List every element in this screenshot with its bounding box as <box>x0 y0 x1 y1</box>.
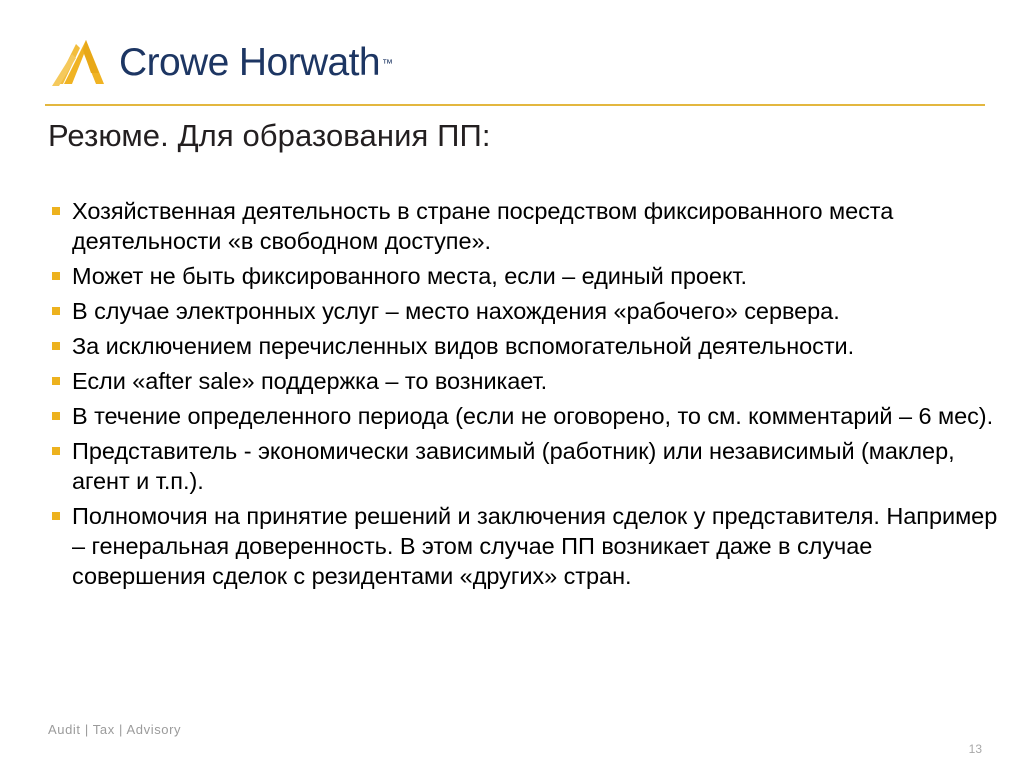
list-item-text: Хозяйственная деятельность в стране поср… <box>72 196 1000 256</box>
page-title: Резюме. Для образования ПП: <box>48 118 491 154</box>
logo-text: Crowe Horwath <box>119 43 380 82</box>
list-item: Представитель - экономически зависимый (… <box>48 436 1000 496</box>
list-item-text: За исключением перечисленных видов вспом… <box>72 331 1000 361</box>
list-item: Если «after sale» поддержка – то возника… <box>48 366 1000 396</box>
square-bullet-icon <box>52 207 60 215</box>
page-number: 13 <box>969 742 982 756</box>
list-item-text: В течение определенного периода (если не… <box>72 401 1000 431</box>
square-bullet-icon <box>52 412 60 420</box>
list-item: Хозяйственная деятельность в стране поср… <box>48 196 1000 256</box>
list-item: В случае электронных услуг – место нахож… <box>48 296 1000 326</box>
square-bullet-icon <box>52 307 60 315</box>
brand-logo: Crowe Horwath ™ <box>52 33 393 91</box>
square-bullet-icon <box>52 342 60 350</box>
list-item-text: Полномочия на принятие решений и заключе… <box>72 501 1000 591</box>
trademark-icon: ™ <box>382 59 393 70</box>
square-bullet-icon <box>52 512 60 520</box>
bullet-list: Хозяйственная деятельность в стране поср… <box>48 196 1000 596</box>
crowe-chevron-mark <box>52 36 110 88</box>
list-item: За исключением перечисленных видов вспом… <box>48 331 1000 361</box>
list-item: Может не быть фиксированного места, если… <box>48 261 1000 291</box>
gold-divider <box>45 104 985 106</box>
list-item-text: В случае электронных услуг – место нахож… <box>72 296 1000 326</box>
list-item-text: Представитель - экономически зависимый (… <box>72 436 1000 496</box>
list-item: Полномочия на принятие решений и заключе… <box>48 501 1000 591</box>
square-bullet-icon <box>52 447 60 455</box>
list-item-text: Может не быть фиксированного места, если… <box>72 261 1000 291</box>
square-bullet-icon <box>52 377 60 385</box>
presentation-slide: Crowe Horwath ™ Резюме. Для образования … <box>0 0 1024 768</box>
list-item: В течение определенного периода (если не… <box>48 401 1000 431</box>
list-item-text: Если «after sale» поддержка – то возника… <box>72 366 1000 396</box>
square-bullet-icon <box>52 272 60 280</box>
footer-services: Audit | Tax | Advisory <box>48 722 181 737</box>
logo-wordmark: Crowe Horwath ™ <box>119 43 393 82</box>
